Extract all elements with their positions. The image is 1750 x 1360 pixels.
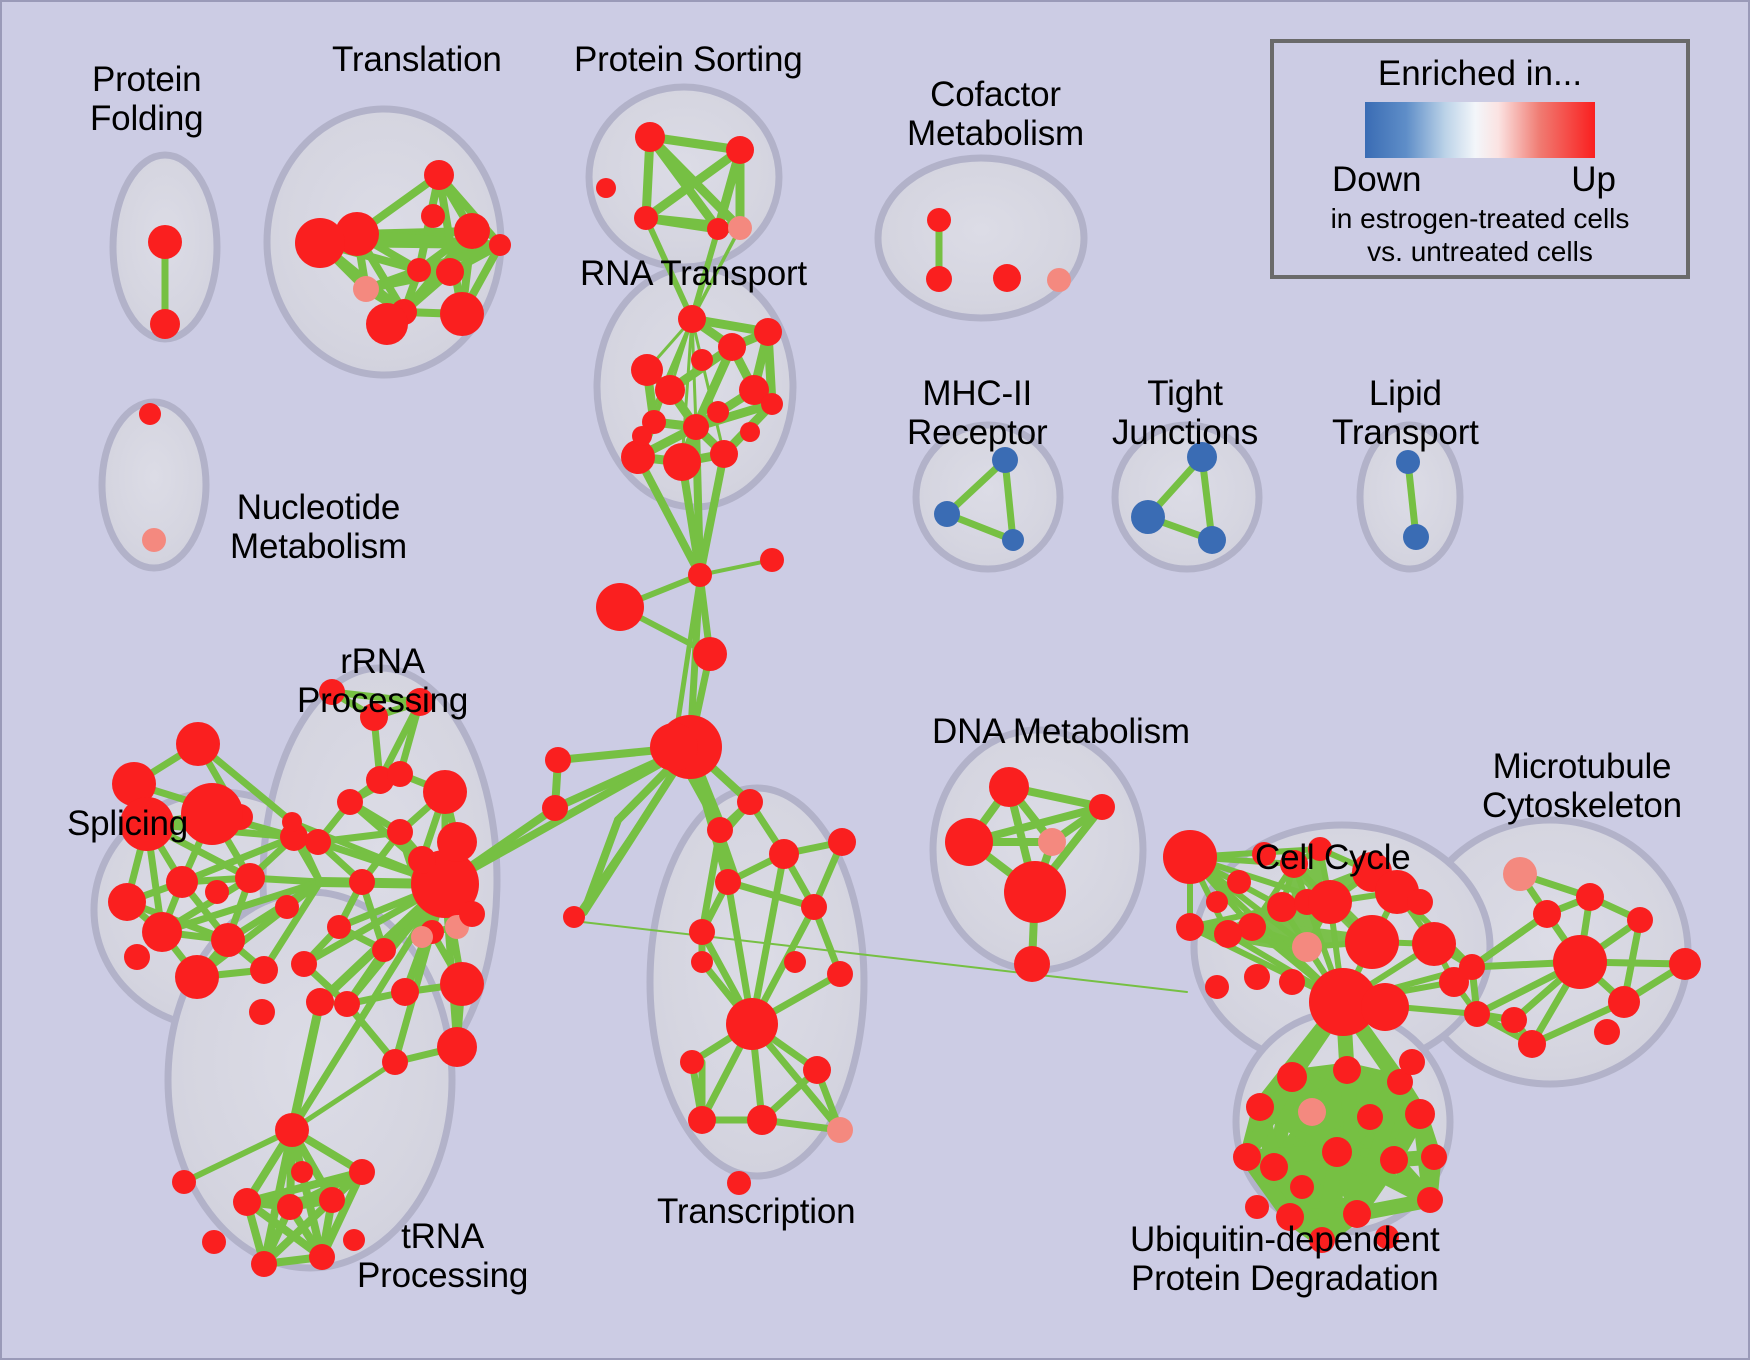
gene-set-node	[250, 956, 278, 984]
legend-colorbar	[1365, 102, 1595, 158]
gene-set-node	[387, 761, 413, 787]
gene-set-node	[440, 962, 484, 1006]
gene-set-node	[691, 951, 713, 973]
cluster-label-lipid-transport: Lipid Transport	[1332, 374, 1479, 452]
gene-set-node	[707, 218, 729, 240]
gene-set-node	[993, 264, 1021, 292]
gene-set-node	[421, 204, 445, 228]
gene-set-node	[349, 1159, 375, 1185]
gene-set-node	[407, 258, 431, 282]
gene-set-node	[205, 880, 229, 904]
gene-set-node	[124, 944, 150, 970]
gene-set-node	[1292, 932, 1322, 962]
gene-set-node	[1089, 794, 1115, 820]
gene-set-node	[1361, 983, 1409, 1031]
gene-set-node	[291, 1161, 313, 1183]
gene-set-node	[459, 901, 485, 927]
legend-high-label: Up	[1571, 160, 1616, 200]
gene-set-node	[827, 961, 853, 987]
gene-set-node	[1669, 948, 1701, 980]
gene-set-node	[1290, 1175, 1314, 1199]
gene-set-node	[710, 440, 738, 468]
cluster-label-trna-processing: tRNA Processing	[357, 1217, 528, 1295]
cluster-label-splicing: Splicing	[67, 804, 188, 843]
gene-set-node	[411, 926, 433, 948]
gene-set-node	[740, 422, 760, 442]
gene-set-node	[1627, 907, 1653, 933]
gene-set-node	[1417, 1187, 1443, 1213]
gene-set-node	[542, 795, 568, 821]
gene-set-node	[707, 401, 729, 423]
gene-set-node	[1533, 900, 1561, 928]
gene-set-node	[1244, 964, 1270, 990]
gene-set-node	[1403, 524, 1429, 550]
gene-set-node	[707, 817, 733, 843]
gene-set-node	[1399, 1049, 1425, 1075]
gene-set-node	[563, 906, 585, 928]
gene-set-node	[688, 1106, 716, 1134]
gene-set-node	[726, 998, 778, 1050]
gene-set-node	[784, 951, 806, 973]
gene-set-node	[1038, 828, 1066, 856]
legend-caption-line1: in estrogen-treated cells	[1274, 202, 1686, 235]
gene-set-node	[827, 1117, 853, 1143]
gene-set-node	[148, 225, 182, 259]
gene-set-node	[1553, 935, 1607, 989]
gene-set-node	[382, 1049, 408, 1075]
gene-set-node	[436, 258, 464, 286]
gene-set-node	[1267, 892, 1297, 922]
gene-set-node	[934, 501, 960, 527]
gene-set-node	[150, 309, 180, 339]
gene-set-node	[1464, 1001, 1490, 1027]
gene-set-node	[291, 951, 317, 977]
gene-set-node	[632, 426, 652, 446]
gene-set-node	[275, 1113, 309, 1147]
gene-set-node	[1357, 1104, 1383, 1130]
gene-set-node	[166, 866, 198, 898]
gene-set-node	[1176, 913, 1204, 941]
gene-set-node	[142, 912, 182, 952]
gene-set-node	[926, 266, 952, 292]
gene-set-node	[142, 528, 166, 552]
gene-set-node	[1214, 920, 1242, 948]
gene-set-node	[1345, 915, 1399, 969]
cluster-label-mhc-ii-receptor: MHC-II Receptor	[907, 374, 1047, 452]
gene-set-node	[334, 991, 360, 1017]
gene-set-node	[726, 136, 754, 164]
gene-set-node	[769, 839, 799, 869]
gene-set-node	[327, 915, 351, 939]
gene-set-node	[277, 1194, 303, 1220]
gene-set-node	[366, 303, 408, 345]
gene-set-node	[295, 218, 345, 268]
gene-set-node	[1501, 1007, 1527, 1033]
legend-caption: in estrogen-treated cells vs. untreated …	[1274, 202, 1686, 268]
gene-set-node	[1576, 883, 1604, 911]
cluster-label-protein-sorting: Protein Sorting	[574, 40, 803, 79]
gene-set-node	[454, 213, 490, 249]
gene-set-node	[1131, 500, 1165, 534]
gene-set-node	[337, 789, 363, 815]
gene-set-node	[803, 1056, 831, 1084]
gene-set-node	[1608, 986, 1640, 1018]
gene-set-node	[1405, 1099, 1435, 1129]
legend-caption-line2: vs. untreated cells	[1274, 235, 1686, 268]
gene-set-node	[424, 160, 454, 190]
gene-set-node	[760, 548, 784, 572]
gene-set-node	[1238, 913, 1266, 941]
gene-set-node	[828, 828, 856, 856]
gene-set-node	[349, 869, 375, 895]
gene-set-node	[1206, 891, 1228, 913]
gene-set-node	[761, 393, 783, 415]
gene-set-node	[251, 1251, 277, 1277]
gene-set-node	[1503, 857, 1537, 891]
gene-set-node	[408, 846, 436, 874]
gene-set-node	[181, 783, 243, 845]
gene-set-node	[139, 403, 161, 425]
gene-set-node	[1594, 1019, 1620, 1045]
gene-set-node	[1322, 1137, 1352, 1167]
gene-set-node	[945, 818, 993, 866]
gene-set-node	[1407, 889, 1433, 915]
gene-set-node	[1421, 1144, 1447, 1170]
gene-set-node	[1279, 969, 1305, 995]
gene-set-node	[747, 1105, 777, 1135]
cluster-label-cell-cycle: Cell Cycle	[1255, 838, 1411, 877]
gene-set-node	[680, 1050, 704, 1074]
gene-set-node	[693, 637, 727, 671]
gene-set-node	[282, 812, 302, 832]
gene-set-node	[387, 819, 413, 845]
gene-set-node	[1198, 526, 1226, 554]
gene-set-node	[678, 305, 706, 333]
gene-set-node	[1333, 1056, 1361, 1084]
gene-set-node	[1396, 450, 1420, 474]
gene-set-node	[688, 563, 712, 587]
cluster-label-cofactor-metabolism: Cofactor Metabolism	[907, 75, 1084, 153]
gene-set-node	[1308, 880, 1352, 924]
cluster-label-nucleotide-metabolism: Nucleotide Metabolism	[230, 488, 407, 566]
gene-set-node	[233, 1188, 261, 1216]
gene-set-node	[1412, 922, 1456, 966]
gene-set-node	[728, 216, 752, 240]
legend-box: Enriched in... Down Up in estrogen-treat…	[1270, 39, 1690, 279]
gene-set-node	[1205, 975, 1229, 999]
gene-set-node	[306, 988, 334, 1016]
cluster-label-tight-junctions: Tight Junctions	[1112, 374, 1258, 452]
gene-set-node	[309, 1244, 335, 1270]
gene-set-node	[175, 955, 219, 999]
hull-cofactor	[878, 158, 1084, 318]
gene-set-node	[235, 863, 265, 893]
gene-set-node	[596, 583, 644, 631]
legend-title: Enriched in...	[1274, 54, 1686, 94]
gene-set-node	[691, 349, 713, 371]
gene-set-node	[1246, 1093, 1274, 1121]
cluster-label-dna-metabolism: DNA Metabolism	[932, 712, 1190, 751]
gene-set-node	[635, 122, 665, 152]
gene-set-node	[1260, 1153, 1288, 1181]
gene-set-node	[596, 178, 616, 198]
gene-set-node	[319, 1187, 345, 1213]
gene-set-node	[211, 923, 245, 957]
gene-set-node	[1245, 1195, 1269, 1219]
gene-set-node	[202, 1230, 226, 1254]
gene-set-node	[801, 894, 827, 920]
gene-set-node	[391, 978, 419, 1006]
gene-set-node	[423, 770, 467, 814]
gene-set-node	[437, 1027, 477, 1067]
cluster-label-rrna-processing: rRNA Processing	[297, 642, 468, 720]
gene-set-node	[1047, 268, 1071, 292]
gene-set-node	[655, 375, 685, 405]
cluster-label-transcription: Transcription	[657, 1192, 855, 1231]
gene-set-node	[489, 234, 511, 256]
gene-set-node	[1459, 954, 1485, 980]
gene-set-node	[545, 747, 571, 773]
gene-set-node	[108, 883, 146, 921]
gene-set-node	[715, 869, 741, 895]
gene-set-node	[689, 919, 715, 945]
gene-set-node	[683, 414, 709, 440]
gene-set-node	[249, 999, 275, 1025]
cluster-label-ubiquitin-degradation: Ubiquitin-dependent Protein Degradation	[1130, 1220, 1440, 1298]
enrichment-map-figure: Protein Folding Translation Protein Sort…	[0, 0, 1750, 1360]
gene-set-node	[1014, 946, 1050, 982]
gene-set-node	[172, 1170, 196, 1194]
gene-set-node	[176, 722, 220, 766]
gene-set-node	[1163, 830, 1217, 884]
gene-set-node	[1380, 1146, 1408, 1174]
gene-set-node	[927, 208, 951, 232]
gene-set-node	[437, 822, 477, 862]
gene-set-node	[989, 767, 1029, 807]
cluster-label-microtubule-cytoskeleton: Microtubule Cytoskeleton	[1482, 747, 1682, 825]
gene-set-node	[353, 276, 379, 302]
gene-set-node	[1298, 1098, 1326, 1126]
gene-set-node	[1227, 870, 1251, 894]
gene-set-node	[718, 333, 746, 361]
gene-set-node	[372, 938, 396, 962]
legend-low-label: Down	[1332, 160, 1421, 200]
gene-set-node	[440, 292, 484, 336]
gene-set-node	[663, 443, 701, 481]
cluster-label-translation: Translation	[332, 40, 502, 79]
gene-set-node	[1518, 1030, 1546, 1058]
gene-set-node	[1277, 1062, 1307, 1092]
gene-set-node	[650, 723, 698, 771]
gene-set-node	[754, 318, 782, 346]
gene-set-node	[275, 895, 299, 919]
cluster-label-protein-folding: Protein Folding	[90, 60, 203, 138]
cluster-label-rna-transport: RNA Transport	[580, 254, 807, 293]
gene-set-node	[305, 829, 331, 855]
gene-set-node	[634, 206, 658, 230]
legend-endpoints: Down Up	[1330, 160, 1630, 202]
gene-set-node	[1002, 529, 1024, 551]
gene-set-node	[1233, 1143, 1261, 1171]
gene-set-node	[1004, 861, 1066, 923]
gene-set-node	[737, 789, 763, 815]
